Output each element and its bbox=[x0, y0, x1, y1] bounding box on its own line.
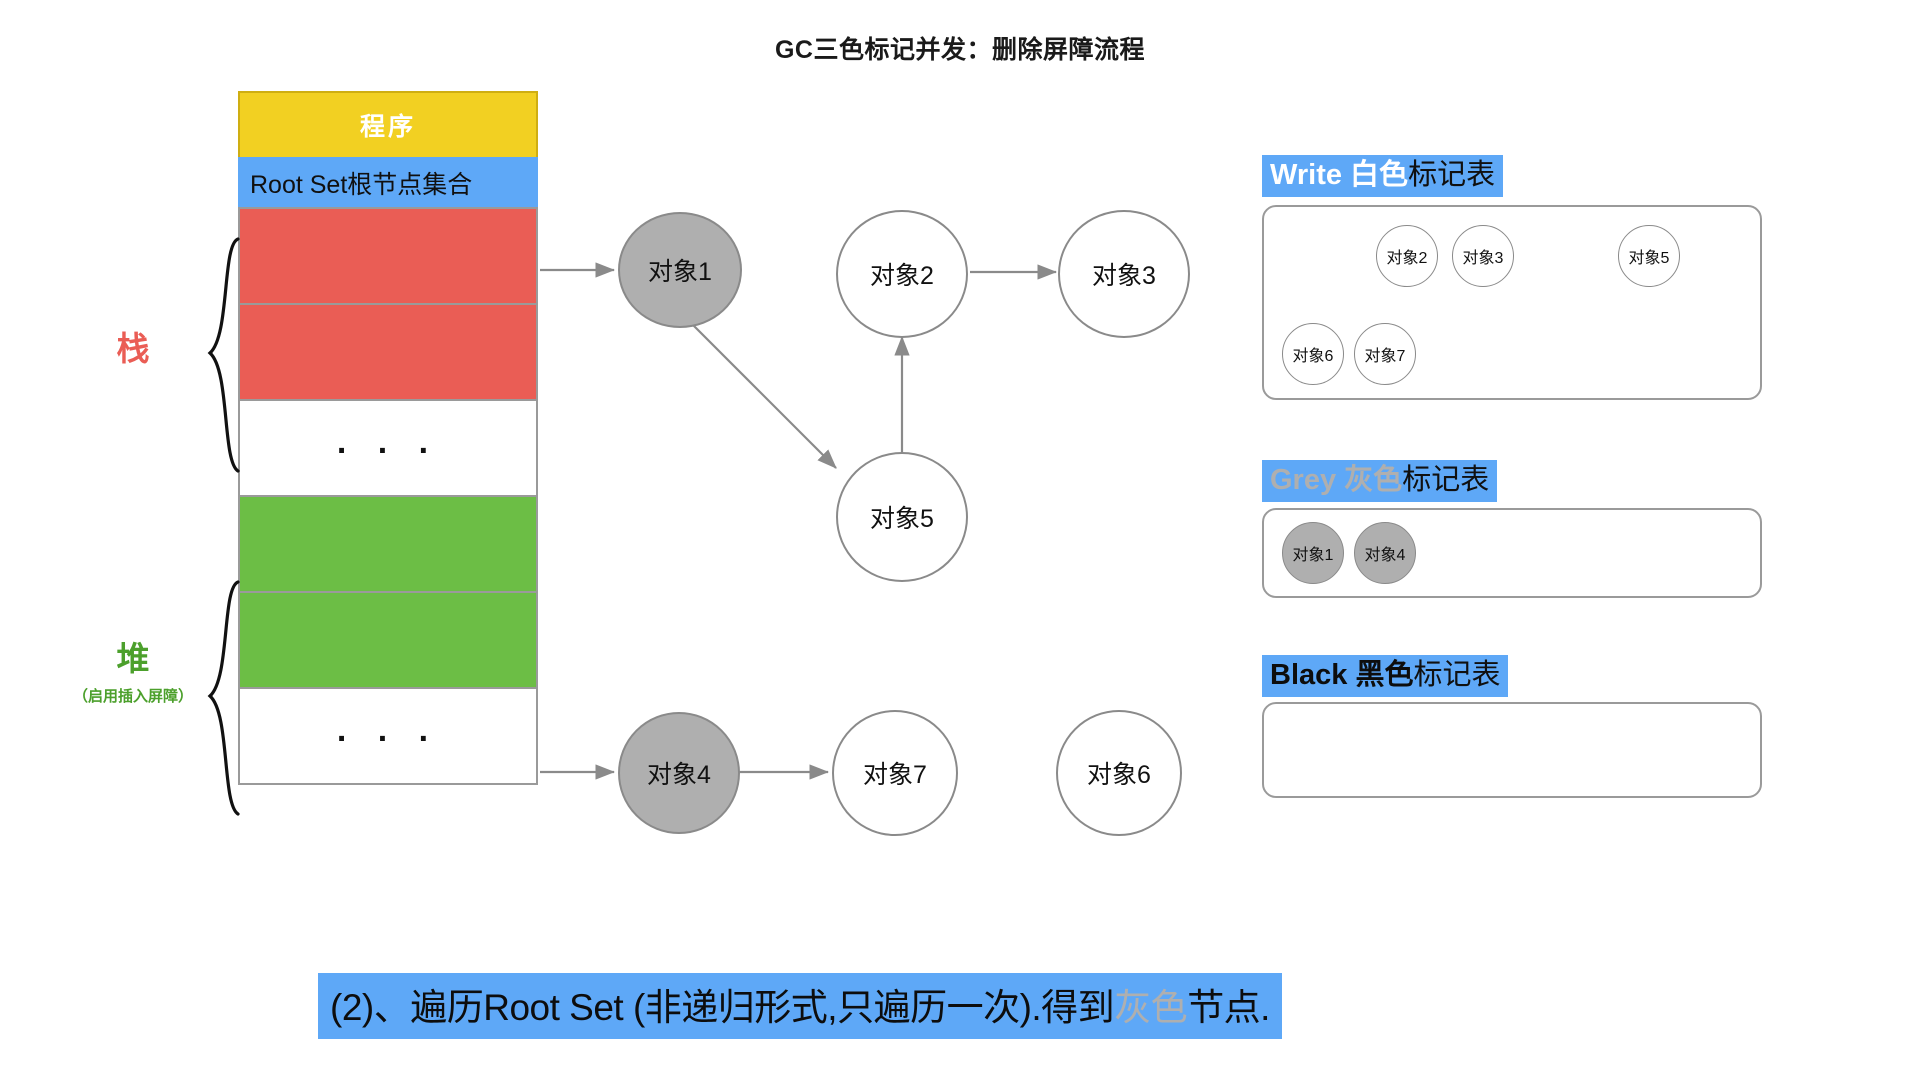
grey-mark-table-box: 对象1 对象4 bbox=[1262, 508, 1762, 598]
mark-chip-obj3[interactable]: 对象3 bbox=[1452, 225, 1514, 287]
black-mark-table-title: Black 黑色标记表 bbox=[1262, 655, 1508, 697]
node-obj4[interactable]: 对象4 bbox=[618, 712, 740, 834]
mark-chip-obj4[interactable]: 对象4 bbox=[1354, 522, 1416, 584]
chip-label: 对象7 bbox=[1365, 342, 1406, 366]
chip-label: 对象4 bbox=[1365, 541, 1406, 565]
node-obj6[interactable]: 对象6 bbox=[1056, 710, 1182, 836]
ellipsis-icon: . . . bbox=[337, 425, 439, 459]
caption-part1: (2)、遍历Root Set (非递归形式,只遍历一次).得到 bbox=[330, 987, 1114, 1028]
title-tail: 标记表 bbox=[1413, 659, 1500, 691]
program-cell: 程序 bbox=[238, 91, 538, 159]
stack-slot-ellipsis: . . . bbox=[238, 399, 538, 497]
node-label: 对象4 bbox=[647, 755, 711, 791]
caption-part2: 节点. bbox=[1187, 987, 1270, 1028]
page-title: GC三色标记并发：删除屏障流程 bbox=[0, 30, 1920, 66]
white-mark-table-box: 对象2 对象3 对象5 对象6 对象7 bbox=[1262, 205, 1762, 400]
stack-slot-1 bbox=[238, 207, 538, 305]
rootset-cell: Root Set根节点集合 bbox=[238, 157, 538, 209]
node-label: 对象5 bbox=[870, 499, 934, 535]
black-mark-table-box bbox=[1262, 702, 1762, 798]
step-caption: (2)、遍历Root Set (非递归形式,只遍历一次).得到灰色节点. bbox=[318, 973, 1282, 1039]
stack-brace-icon bbox=[198, 235, 246, 475]
stack-label: 栈 bbox=[78, 330, 188, 368]
chip-label: 对象2 bbox=[1387, 244, 1428, 268]
title-tail: 标记表 bbox=[1402, 464, 1489, 496]
node-label: 对象7 bbox=[863, 755, 927, 791]
grey-mark-table-title: Grey 灰色标记表 bbox=[1262, 460, 1497, 502]
title-tail: 标记表 bbox=[1408, 159, 1495, 191]
node-obj2[interactable]: 对象2 bbox=[836, 210, 968, 338]
program-label: 程序 bbox=[360, 107, 416, 143]
chip-label: 对象5 bbox=[1629, 244, 1670, 268]
heap-label: 堆 bbox=[58, 640, 208, 678]
mark-chip-obj2[interactable]: 对象2 bbox=[1376, 225, 1438, 287]
caption-grey-word: 灰色 bbox=[1114, 987, 1187, 1028]
stack-slot-2 bbox=[238, 303, 538, 401]
node-obj1[interactable]: 对象1 bbox=[618, 212, 742, 328]
title-en: Grey bbox=[1270, 464, 1336, 496]
title-en: Black bbox=[1270, 659, 1347, 691]
heap-sublabel: （启用插入屏障） bbox=[38, 688, 228, 705]
node-obj5[interactable]: 对象5 bbox=[836, 452, 968, 582]
mark-chip-obj5[interactable]: 对象5 bbox=[1618, 225, 1680, 287]
rootset-label: Root Set根节点集合 bbox=[250, 165, 472, 201]
node-label: 对象3 bbox=[1092, 256, 1156, 292]
chip-label: 对象6 bbox=[1293, 342, 1334, 366]
title-en: Write bbox=[1270, 159, 1342, 191]
node-label: 对象6 bbox=[1087, 755, 1151, 791]
mark-chip-obj7[interactable]: 对象7 bbox=[1354, 323, 1416, 385]
node-obj7[interactable]: 对象7 bbox=[832, 710, 958, 836]
heap-slot-2 bbox=[238, 591, 538, 689]
chip-label: 对象3 bbox=[1463, 244, 1504, 268]
title-color-word: 白色 bbox=[1350, 159, 1408, 191]
node-label: 对象1 bbox=[648, 252, 712, 288]
edge-obj1-to-obj5 bbox=[688, 320, 836, 468]
mark-chip-obj1[interactable]: 对象1 bbox=[1282, 522, 1344, 584]
node-obj3[interactable]: 对象3 bbox=[1058, 210, 1190, 338]
title-color-word: 黑色 bbox=[1355, 659, 1413, 691]
title-color-word: 灰色 bbox=[1344, 464, 1402, 496]
memory-column: 程序 Root Set根节点集合 . . . . . . bbox=[238, 93, 538, 785]
chip-label: 对象1 bbox=[1293, 541, 1334, 565]
white-mark-table-title: Write 白色标记表 bbox=[1262, 155, 1503, 197]
heap-slot-1 bbox=[238, 495, 538, 593]
mark-chip-obj6[interactable]: 对象6 bbox=[1282, 323, 1344, 385]
node-label: 对象2 bbox=[870, 256, 934, 292]
ellipsis-icon: . . . bbox=[337, 713, 439, 747]
heap-slot-ellipsis: . . . bbox=[238, 687, 538, 785]
